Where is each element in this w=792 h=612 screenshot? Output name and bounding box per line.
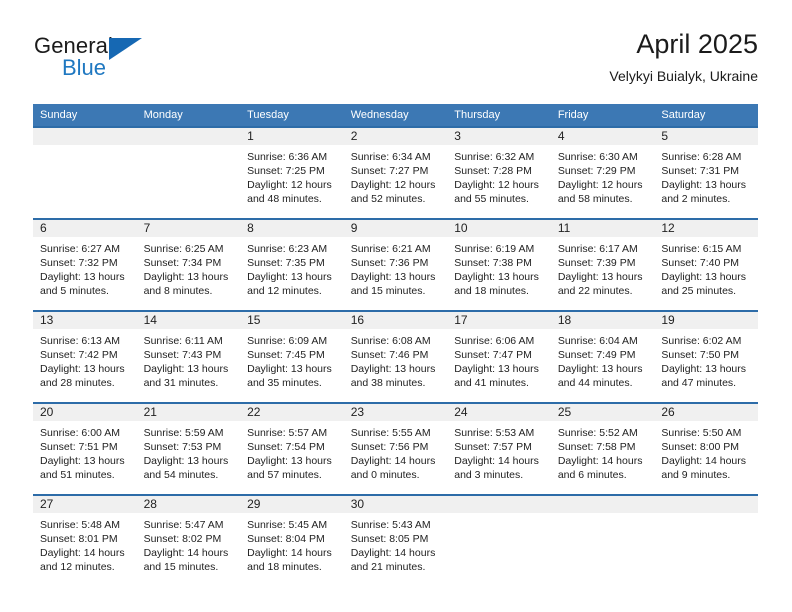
sunrise-time: Sunrise: 6:27 AM <box>40 242 131 256</box>
daylight-duration-line2: and 8 minutes. <box>144 284 235 298</box>
sunrise-time: Sunrise: 5:48 AM <box>40 518 131 532</box>
day-number: 10 <box>447 220 551 237</box>
title-block: April 2025 Velykyi Buialyk, Ukraine <box>609 28 758 86</box>
daylight-duration-line1: Daylight: 13 hours <box>558 270 649 284</box>
sunrise-time: Sunrise: 6:15 AM <box>661 242 752 256</box>
daylight-duration-line2: and 6 minutes. <box>558 468 649 482</box>
daylight-duration-line2: and 41 minutes. <box>454 376 545 390</box>
day-sun-info: Sunrise: 5:50 AMSunset: 8:00 PMDaylight:… <box>654 421 758 482</box>
daylight-duration-line2: and 48 minutes. <box>247 192 338 206</box>
calendar-week-row: 27Sunrise: 5:48 AMSunset: 8:01 PMDayligh… <box>33 495 758 586</box>
daylight-duration-line2: and 52 minutes. <box>351 192 442 206</box>
day-sun-info: Sunrise: 6:08 AMSunset: 7:46 PMDaylight:… <box>344 329 448 390</box>
day-sun-info <box>447 513 551 518</box>
calendar-day-cell[interactable]: 8Sunrise: 6:23 AMSunset: 7:35 PMDaylight… <box>240 219 344 311</box>
sunset-time: Sunset: 7:35 PM <box>247 256 338 270</box>
sunset-time: Sunset: 8:02 PM <box>144 532 235 546</box>
daylight-duration-line1: Daylight: 14 hours <box>247 546 338 560</box>
day-sun-info: Sunrise: 6:00 AMSunset: 7:51 PMDaylight:… <box>33 421 137 482</box>
daylight-duration-line2: and 25 minutes. <box>661 284 752 298</box>
sunrise-time: Sunrise: 5:45 AM <box>247 518 338 532</box>
calendar-day-cell[interactable]: 29Sunrise: 5:45 AMSunset: 8:04 PMDayligh… <box>240 495 344 586</box>
daylight-duration-line1: Daylight: 14 hours <box>144 546 235 560</box>
calendar-day-cell[interactable]: 25Sunrise: 5:52 AMSunset: 7:58 PMDayligh… <box>551 403 655 495</box>
day-sun-info: Sunrise: 6:17 AMSunset: 7:39 PMDaylight:… <box>551 237 655 298</box>
day-sun-info: Sunrise: 6:09 AMSunset: 7:45 PMDaylight:… <box>240 329 344 390</box>
day-sun-info: Sunrise: 5:47 AMSunset: 8:02 PMDaylight:… <box>137 513 241 574</box>
day-number: 24 <box>447 404 551 421</box>
weekday-header-row: Sunday Monday Tuesday Wednesday Thursday… <box>33 104 758 127</box>
daylight-duration-line1: Daylight: 13 hours <box>144 362 235 376</box>
sunrise-time: Sunrise: 6:25 AM <box>144 242 235 256</box>
daylight-duration-line2: and 15 minutes. <box>144 560 235 574</box>
calendar-day-cell[interactable]: 1Sunrise: 6:36 AMSunset: 7:25 PMDaylight… <box>240 127 344 219</box>
daylight-duration-line2: and 18 minutes. <box>247 560 338 574</box>
day-sun-info: Sunrise: 6:11 AMSunset: 7:43 PMDaylight:… <box>137 329 241 390</box>
sunset-time: Sunset: 7:53 PM <box>144 440 235 454</box>
calendar-day-cell[interactable]: 26Sunrise: 5:50 AMSunset: 8:00 PMDayligh… <box>654 403 758 495</box>
sunset-time: Sunset: 7:34 PM <box>144 256 235 270</box>
daylight-duration-line1: Daylight: 12 hours <box>454 178 545 192</box>
day-number: 25 <box>551 404 655 421</box>
sunset-time: Sunset: 7:51 PM <box>40 440 131 454</box>
calendar-day-cell[interactable]: 11Sunrise: 6:17 AMSunset: 7:39 PMDayligh… <box>551 219 655 311</box>
calendar-day-cell[interactable]: 30Sunrise: 5:43 AMSunset: 8:05 PMDayligh… <box>344 495 448 586</box>
day-sun-info: Sunrise: 6:32 AMSunset: 7:28 PMDaylight:… <box>447 145 551 206</box>
general-blue-logo[interactable]: General Blue <box>33 30 223 88</box>
day-number: 8 <box>240 220 344 237</box>
sunrise-time: Sunrise: 6:09 AM <box>247 334 338 348</box>
day-number: 23 <box>344 404 448 421</box>
day-number <box>654 496 758 513</box>
sunset-time: Sunset: 7:39 PM <box>558 256 649 270</box>
day-sun-info: Sunrise: 6:23 AMSunset: 7:35 PMDaylight:… <box>240 237 344 298</box>
daylight-duration-line1: Daylight: 13 hours <box>144 270 235 284</box>
daylight-duration-line1: Daylight: 13 hours <box>661 270 752 284</box>
sunset-time: Sunset: 7:49 PM <box>558 348 649 362</box>
sunset-time: Sunset: 7:56 PM <box>351 440 442 454</box>
day-number: 30 <box>344 496 448 513</box>
daylight-duration-line1: Daylight: 13 hours <box>40 454 131 468</box>
day-sun-info: Sunrise: 5:55 AMSunset: 7:56 PMDaylight:… <box>344 421 448 482</box>
day-number: 26 <box>654 404 758 421</box>
location-subtitle: Velykyi Buialyk, Ukraine <box>609 66 758 86</box>
sunset-time: Sunset: 8:05 PM <box>351 532 442 546</box>
sunset-time: Sunset: 8:01 PM <box>40 532 131 546</box>
daylight-duration-line1: Daylight: 14 hours <box>558 454 649 468</box>
day-number: 20 <box>33 404 137 421</box>
day-number: 19 <box>654 312 758 329</box>
daylight-duration-line1: Daylight: 13 hours <box>247 454 338 468</box>
sunset-time: Sunset: 7:29 PM <box>558 164 649 178</box>
day-number <box>33 128 137 145</box>
daylight-duration-line2: and 57 minutes. <box>247 468 338 482</box>
day-number: 4 <box>551 128 655 145</box>
calendar-day-cell[interactable]: 17Sunrise: 6:06 AMSunset: 7:47 PMDayligh… <box>447 311 551 403</box>
weekday-header-friday: Friday <box>551 104 655 127</box>
sunrise-time: Sunrise: 6:34 AM <box>351 150 442 164</box>
calendar-day-cell[interactable]: 21Sunrise: 5:59 AMSunset: 7:53 PMDayligh… <box>137 403 241 495</box>
sunset-time: Sunset: 7:46 PM <box>351 348 442 362</box>
calendar-day-cell[interactable]: 27Sunrise: 5:48 AMSunset: 8:01 PMDayligh… <box>33 495 137 586</box>
day-number: 9 <box>344 220 448 237</box>
sunrise-time: Sunrise: 5:47 AM <box>144 518 235 532</box>
daylight-duration-line2: and 5 minutes. <box>40 284 131 298</box>
daylight-duration-line1: Daylight: 13 hours <box>661 362 752 376</box>
day-sun-info: Sunrise: 6:28 AMSunset: 7:31 PMDaylight:… <box>654 145 758 206</box>
day-number: 1 <box>240 128 344 145</box>
calendar-day-cell-empty <box>33 127 137 219</box>
sunset-time: Sunset: 7:57 PM <box>454 440 545 454</box>
day-number: 11 <box>551 220 655 237</box>
calendar-day-cell[interactable]: 18Sunrise: 6:04 AMSunset: 7:49 PMDayligh… <box>551 311 655 403</box>
daylight-duration-line2: and 9 minutes. <box>661 468 752 482</box>
weekday-header-sunday: Sunday <box>33 104 137 127</box>
daylight-duration-line1: Daylight: 13 hours <box>247 362 338 376</box>
day-sun-info <box>654 513 758 518</box>
day-sun-info: Sunrise: 5:52 AMSunset: 7:58 PMDaylight:… <box>551 421 655 482</box>
sunrise-time: Sunrise: 5:50 AM <box>661 426 752 440</box>
daylight-duration-line2: and 38 minutes. <box>351 376 442 390</box>
daylight-duration-line1: Daylight: 13 hours <box>351 362 442 376</box>
day-sun-info: Sunrise: 5:59 AMSunset: 7:53 PMDaylight:… <box>137 421 241 482</box>
calendar-day-cell[interactable]: 13Sunrise: 6:13 AMSunset: 7:42 PMDayligh… <box>33 311 137 403</box>
daylight-duration-line2: and 12 minutes. <box>247 284 338 298</box>
sunset-time: Sunset: 7:36 PM <box>351 256 442 270</box>
calendar-week-row: 6Sunrise: 6:27 AMSunset: 7:32 PMDaylight… <box>33 219 758 311</box>
sunset-time: Sunset: 7:38 PM <box>454 256 545 270</box>
day-sun-info: Sunrise: 5:48 AMSunset: 8:01 PMDaylight:… <box>33 513 137 574</box>
calendar-table: Sunday Monday Tuesday Wednesday Thursday… <box>33 104 758 586</box>
daylight-duration-line1: Daylight: 12 hours <box>558 178 649 192</box>
calendar-day-cell-empty <box>654 495 758 586</box>
sunset-time: Sunset: 8:04 PM <box>247 532 338 546</box>
daylight-duration-line2: and 12 minutes. <box>40 560 131 574</box>
triangle-logo-icon <box>109 38 142 60</box>
day-number: 14 <box>137 312 241 329</box>
day-sun-info: Sunrise: 6:04 AMSunset: 7:49 PMDaylight:… <box>551 329 655 390</box>
sunrise-time: Sunrise: 6:23 AM <box>247 242 338 256</box>
day-number <box>551 496 655 513</box>
sunrise-time: Sunrise: 6:28 AM <box>661 150 752 164</box>
sunset-time: Sunset: 8:00 PM <box>661 440 752 454</box>
daylight-duration-line2: and 31 minutes. <box>144 376 235 390</box>
calendar-day-cell[interactable]: 4Sunrise: 6:30 AMSunset: 7:29 PMDaylight… <box>551 127 655 219</box>
day-sun-info: Sunrise: 6:06 AMSunset: 7:47 PMDaylight:… <box>447 329 551 390</box>
sunset-time: Sunset: 7:28 PM <box>454 164 545 178</box>
calendar-day-cell-empty <box>551 495 655 586</box>
day-sun-info: Sunrise: 6:15 AMSunset: 7:40 PMDaylight:… <box>654 237 758 298</box>
weekday-header-wednesday: Wednesday <box>344 104 448 127</box>
daylight-duration-line2: and 44 minutes. <box>558 376 649 390</box>
daylight-duration-line2: and 35 minutes. <box>247 376 338 390</box>
sunrise-time: Sunrise: 5:52 AM <box>558 426 649 440</box>
day-number: 15 <box>240 312 344 329</box>
day-sun-info: Sunrise: 6:13 AMSunset: 7:42 PMDaylight:… <box>33 329 137 390</box>
calendar-day-cell[interactable]: 23Sunrise: 5:55 AMSunset: 7:56 PMDayligh… <box>344 403 448 495</box>
sunset-time: Sunset: 7:42 PM <box>40 348 131 362</box>
day-sun-info: Sunrise: 6:25 AMSunset: 7:34 PMDaylight:… <box>137 237 241 298</box>
sunrise-time: Sunrise: 5:43 AM <box>351 518 442 532</box>
calendar-day-cell-empty <box>447 495 551 586</box>
daylight-duration-line2: and 55 minutes. <box>454 192 545 206</box>
daylight-duration-line1: Daylight: 12 hours <box>247 178 338 192</box>
day-sun-info: Sunrise: 6:21 AMSunset: 7:36 PMDaylight:… <box>344 237 448 298</box>
daylight-duration-line1: Daylight: 14 hours <box>40 546 131 560</box>
daylight-duration-line1: Daylight: 14 hours <box>351 454 442 468</box>
sunset-time: Sunset: 7:40 PM <box>661 256 752 270</box>
daylight-duration-line2: and 58 minutes. <box>558 192 649 206</box>
day-number: 16 <box>344 312 448 329</box>
sunrise-time: Sunrise: 6:11 AM <box>144 334 235 348</box>
sunrise-time: Sunrise: 5:57 AM <box>247 426 338 440</box>
calendar-day-cell[interactable]: 7Sunrise: 6:25 AMSunset: 7:34 PMDaylight… <box>137 219 241 311</box>
calendar-day-cell[interactable]: 22Sunrise: 5:57 AMSunset: 7:54 PMDayligh… <box>240 403 344 495</box>
day-sun-info: Sunrise: 6:27 AMSunset: 7:32 PMDaylight:… <box>33 237 137 298</box>
calendar-day-cell[interactable]: 5Sunrise: 6:28 AMSunset: 7:31 PMDaylight… <box>654 127 758 219</box>
daylight-duration-line1: Daylight: 13 hours <box>558 362 649 376</box>
sunrise-time: Sunrise: 6:32 AM <box>454 150 545 164</box>
daylight-duration-line2: and 18 minutes. <box>454 284 545 298</box>
day-sun-info: Sunrise: 6:36 AMSunset: 7:25 PMDaylight:… <box>240 145 344 206</box>
daylight-duration-line1: Daylight: 13 hours <box>351 270 442 284</box>
sunset-time: Sunset: 7:43 PM <box>144 348 235 362</box>
sunrise-time: Sunrise: 5:59 AM <box>144 426 235 440</box>
daylight-duration-line2: and 47 minutes. <box>661 376 752 390</box>
daylight-duration-line2: and 54 minutes. <box>144 468 235 482</box>
calendar-page: General Blue April 2025 Velykyi Buialyk,… <box>0 0 792 612</box>
calendar-day-cell[interactable]: 20Sunrise: 6:00 AMSunset: 7:51 PMDayligh… <box>33 403 137 495</box>
day-number <box>137 128 241 145</box>
day-number: 3 <box>447 128 551 145</box>
day-number: 7 <box>137 220 241 237</box>
calendar-day-cell[interactable]: 15Sunrise: 6:09 AMSunset: 7:45 PMDayligh… <box>240 311 344 403</box>
sunrise-time: Sunrise: 6:36 AM <box>247 150 338 164</box>
day-number: 5 <box>654 128 758 145</box>
sunset-time: Sunset: 7:54 PM <box>247 440 338 454</box>
sunrise-time: Sunrise: 6:17 AM <box>558 242 649 256</box>
day-number: 2 <box>344 128 448 145</box>
day-sun-info: Sunrise: 6:34 AMSunset: 7:27 PMDaylight:… <box>344 145 448 206</box>
sunset-time: Sunset: 7:47 PM <box>454 348 545 362</box>
calendar-day-cell[interactable]: 19Sunrise: 6:02 AMSunset: 7:50 PMDayligh… <box>654 311 758 403</box>
day-sun-info: Sunrise: 5:43 AMSunset: 8:05 PMDaylight:… <box>344 513 448 574</box>
day-sun-info: Sunrise: 5:45 AMSunset: 8:04 PMDaylight:… <box>240 513 344 574</box>
daylight-duration-line1: Daylight: 13 hours <box>661 178 752 192</box>
sunrise-time: Sunrise: 6:30 AM <box>558 150 649 164</box>
calendar-week-row: 1Sunrise: 6:36 AMSunset: 7:25 PMDaylight… <box>33 127 758 219</box>
sunset-time: Sunset: 7:27 PM <box>351 164 442 178</box>
weekday-header-thursday: Thursday <box>447 104 551 127</box>
daylight-duration-line2: and 22 minutes. <box>558 284 649 298</box>
daylight-duration-line1: Daylight: 13 hours <box>144 454 235 468</box>
calendar-body: 1Sunrise: 6:36 AMSunset: 7:25 PMDaylight… <box>33 127 758 586</box>
day-sun-info: Sunrise: 5:53 AMSunset: 7:57 PMDaylight:… <box>447 421 551 482</box>
sunset-time: Sunset: 7:31 PM <box>661 164 752 178</box>
day-sun-info <box>137 145 241 150</box>
calendar-day-cell[interactable]: 10Sunrise: 6:19 AMSunset: 7:38 PMDayligh… <box>447 219 551 311</box>
sunrise-time: Sunrise: 6:21 AM <box>351 242 442 256</box>
sunrise-time: Sunrise: 6:19 AM <box>454 242 545 256</box>
calendar-day-cell[interactable]: 2Sunrise: 6:34 AMSunset: 7:27 PMDaylight… <box>344 127 448 219</box>
daylight-duration-line1: Daylight: 14 hours <box>661 454 752 468</box>
weekday-header-tuesday: Tuesday <box>240 104 344 127</box>
daylight-duration-line1: Daylight: 13 hours <box>40 362 131 376</box>
calendar-week-row: 13Sunrise: 6:13 AMSunset: 7:42 PMDayligh… <box>33 311 758 403</box>
calendar-day-cell[interactable]: 9Sunrise: 6:21 AMSunset: 7:36 PMDaylight… <box>344 219 448 311</box>
day-number: 21 <box>137 404 241 421</box>
calendar-day-cell[interactable]: 3Sunrise: 6:32 AMSunset: 7:28 PMDaylight… <box>447 127 551 219</box>
day-sun-info: Sunrise: 5:57 AMSunset: 7:54 PMDaylight:… <box>240 421 344 482</box>
calendar-day-cell-empty <box>137 127 241 219</box>
calendar-week-row: 20Sunrise: 6:00 AMSunset: 7:51 PMDayligh… <box>33 403 758 495</box>
sunrise-time: Sunrise: 5:55 AM <box>351 426 442 440</box>
daylight-duration-line1: Daylight: 13 hours <box>40 270 131 284</box>
day-number: 13 <box>33 312 137 329</box>
calendar-day-cell[interactable]: 14Sunrise: 6:11 AMSunset: 7:43 PMDayligh… <box>137 311 241 403</box>
day-sun-info <box>551 513 655 518</box>
day-number: 12 <box>654 220 758 237</box>
daylight-duration-line2: and 3 minutes. <box>454 468 545 482</box>
page-header: General Blue April 2025 Velykyi Buialyk,… <box>33 28 758 96</box>
sunset-time: Sunset: 7:45 PM <box>247 348 338 362</box>
weekday-header-saturday: Saturday <box>654 104 758 127</box>
sunrise-time: Sunrise: 5:53 AM <box>454 426 545 440</box>
daylight-duration-line2: and 15 minutes. <box>351 284 442 298</box>
sunrise-time: Sunrise: 6:06 AM <box>454 334 545 348</box>
daylight-duration-line2: and 2 minutes. <box>661 192 752 206</box>
sunrise-time: Sunrise: 6:08 AM <box>351 334 442 348</box>
day-number: 29 <box>240 496 344 513</box>
day-sun-info <box>33 145 137 150</box>
sunrise-time: Sunrise: 6:04 AM <box>558 334 649 348</box>
page-title: April 2025 <box>609 28 758 60</box>
calendar-day-cell[interactable]: 6Sunrise: 6:27 AMSunset: 7:32 PMDaylight… <box>33 219 137 311</box>
daylight-duration-line2: and 0 minutes. <box>351 468 442 482</box>
day-number: 28 <box>137 496 241 513</box>
calendar-day-cell[interactable]: 24Sunrise: 5:53 AMSunset: 7:57 PMDayligh… <box>447 403 551 495</box>
logo-text-blue: Blue <box>62 55 106 81</box>
sunrise-time: Sunrise: 6:02 AM <box>661 334 752 348</box>
calendar-day-cell[interactable]: 16Sunrise: 6:08 AMSunset: 7:46 PMDayligh… <box>344 311 448 403</box>
calendar-day-cell[interactable]: 12Sunrise: 6:15 AMSunset: 7:40 PMDayligh… <box>654 219 758 311</box>
weekday-header-monday: Monday <box>137 104 241 127</box>
sunrise-time: Sunrise: 6:13 AM <box>40 334 131 348</box>
daylight-duration-line1: Daylight: 12 hours <box>351 178 442 192</box>
daylight-duration-line2: and 51 minutes. <box>40 468 131 482</box>
sunrise-time: Sunrise: 6:00 AM <box>40 426 131 440</box>
sunset-time: Sunset: 7:50 PM <box>661 348 752 362</box>
day-number: 27 <box>33 496 137 513</box>
day-number <box>447 496 551 513</box>
daylight-duration-line1: Daylight: 14 hours <box>351 546 442 560</box>
daylight-duration-line1: Daylight: 13 hours <box>454 362 545 376</box>
day-number: 18 <box>551 312 655 329</box>
day-number: 22 <box>240 404 344 421</box>
day-sun-info: Sunrise: 6:19 AMSunset: 7:38 PMDaylight:… <box>447 237 551 298</box>
sunset-time: Sunset: 7:32 PM <box>40 256 131 270</box>
daylight-duration-line2: and 21 minutes. <box>351 560 442 574</box>
sunset-time: Sunset: 7:58 PM <box>558 440 649 454</box>
daylight-duration-line1: Daylight: 13 hours <box>454 270 545 284</box>
daylight-duration-line1: Daylight: 13 hours <box>247 270 338 284</box>
day-number: 17 <box>447 312 551 329</box>
sunset-time: Sunset: 7:25 PM <box>247 164 338 178</box>
day-sun-info: Sunrise: 6:30 AMSunset: 7:29 PMDaylight:… <box>551 145 655 206</box>
daylight-duration-line2: and 28 minutes. <box>40 376 131 390</box>
calendar-day-cell[interactable]: 28Sunrise: 5:47 AMSunset: 8:02 PMDayligh… <box>137 495 241 586</box>
day-number: 6 <box>33 220 137 237</box>
daylight-duration-line1: Daylight: 14 hours <box>454 454 545 468</box>
day-sun-info: Sunrise: 6:02 AMSunset: 7:50 PMDaylight:… <box>654 329 758 390</box>
